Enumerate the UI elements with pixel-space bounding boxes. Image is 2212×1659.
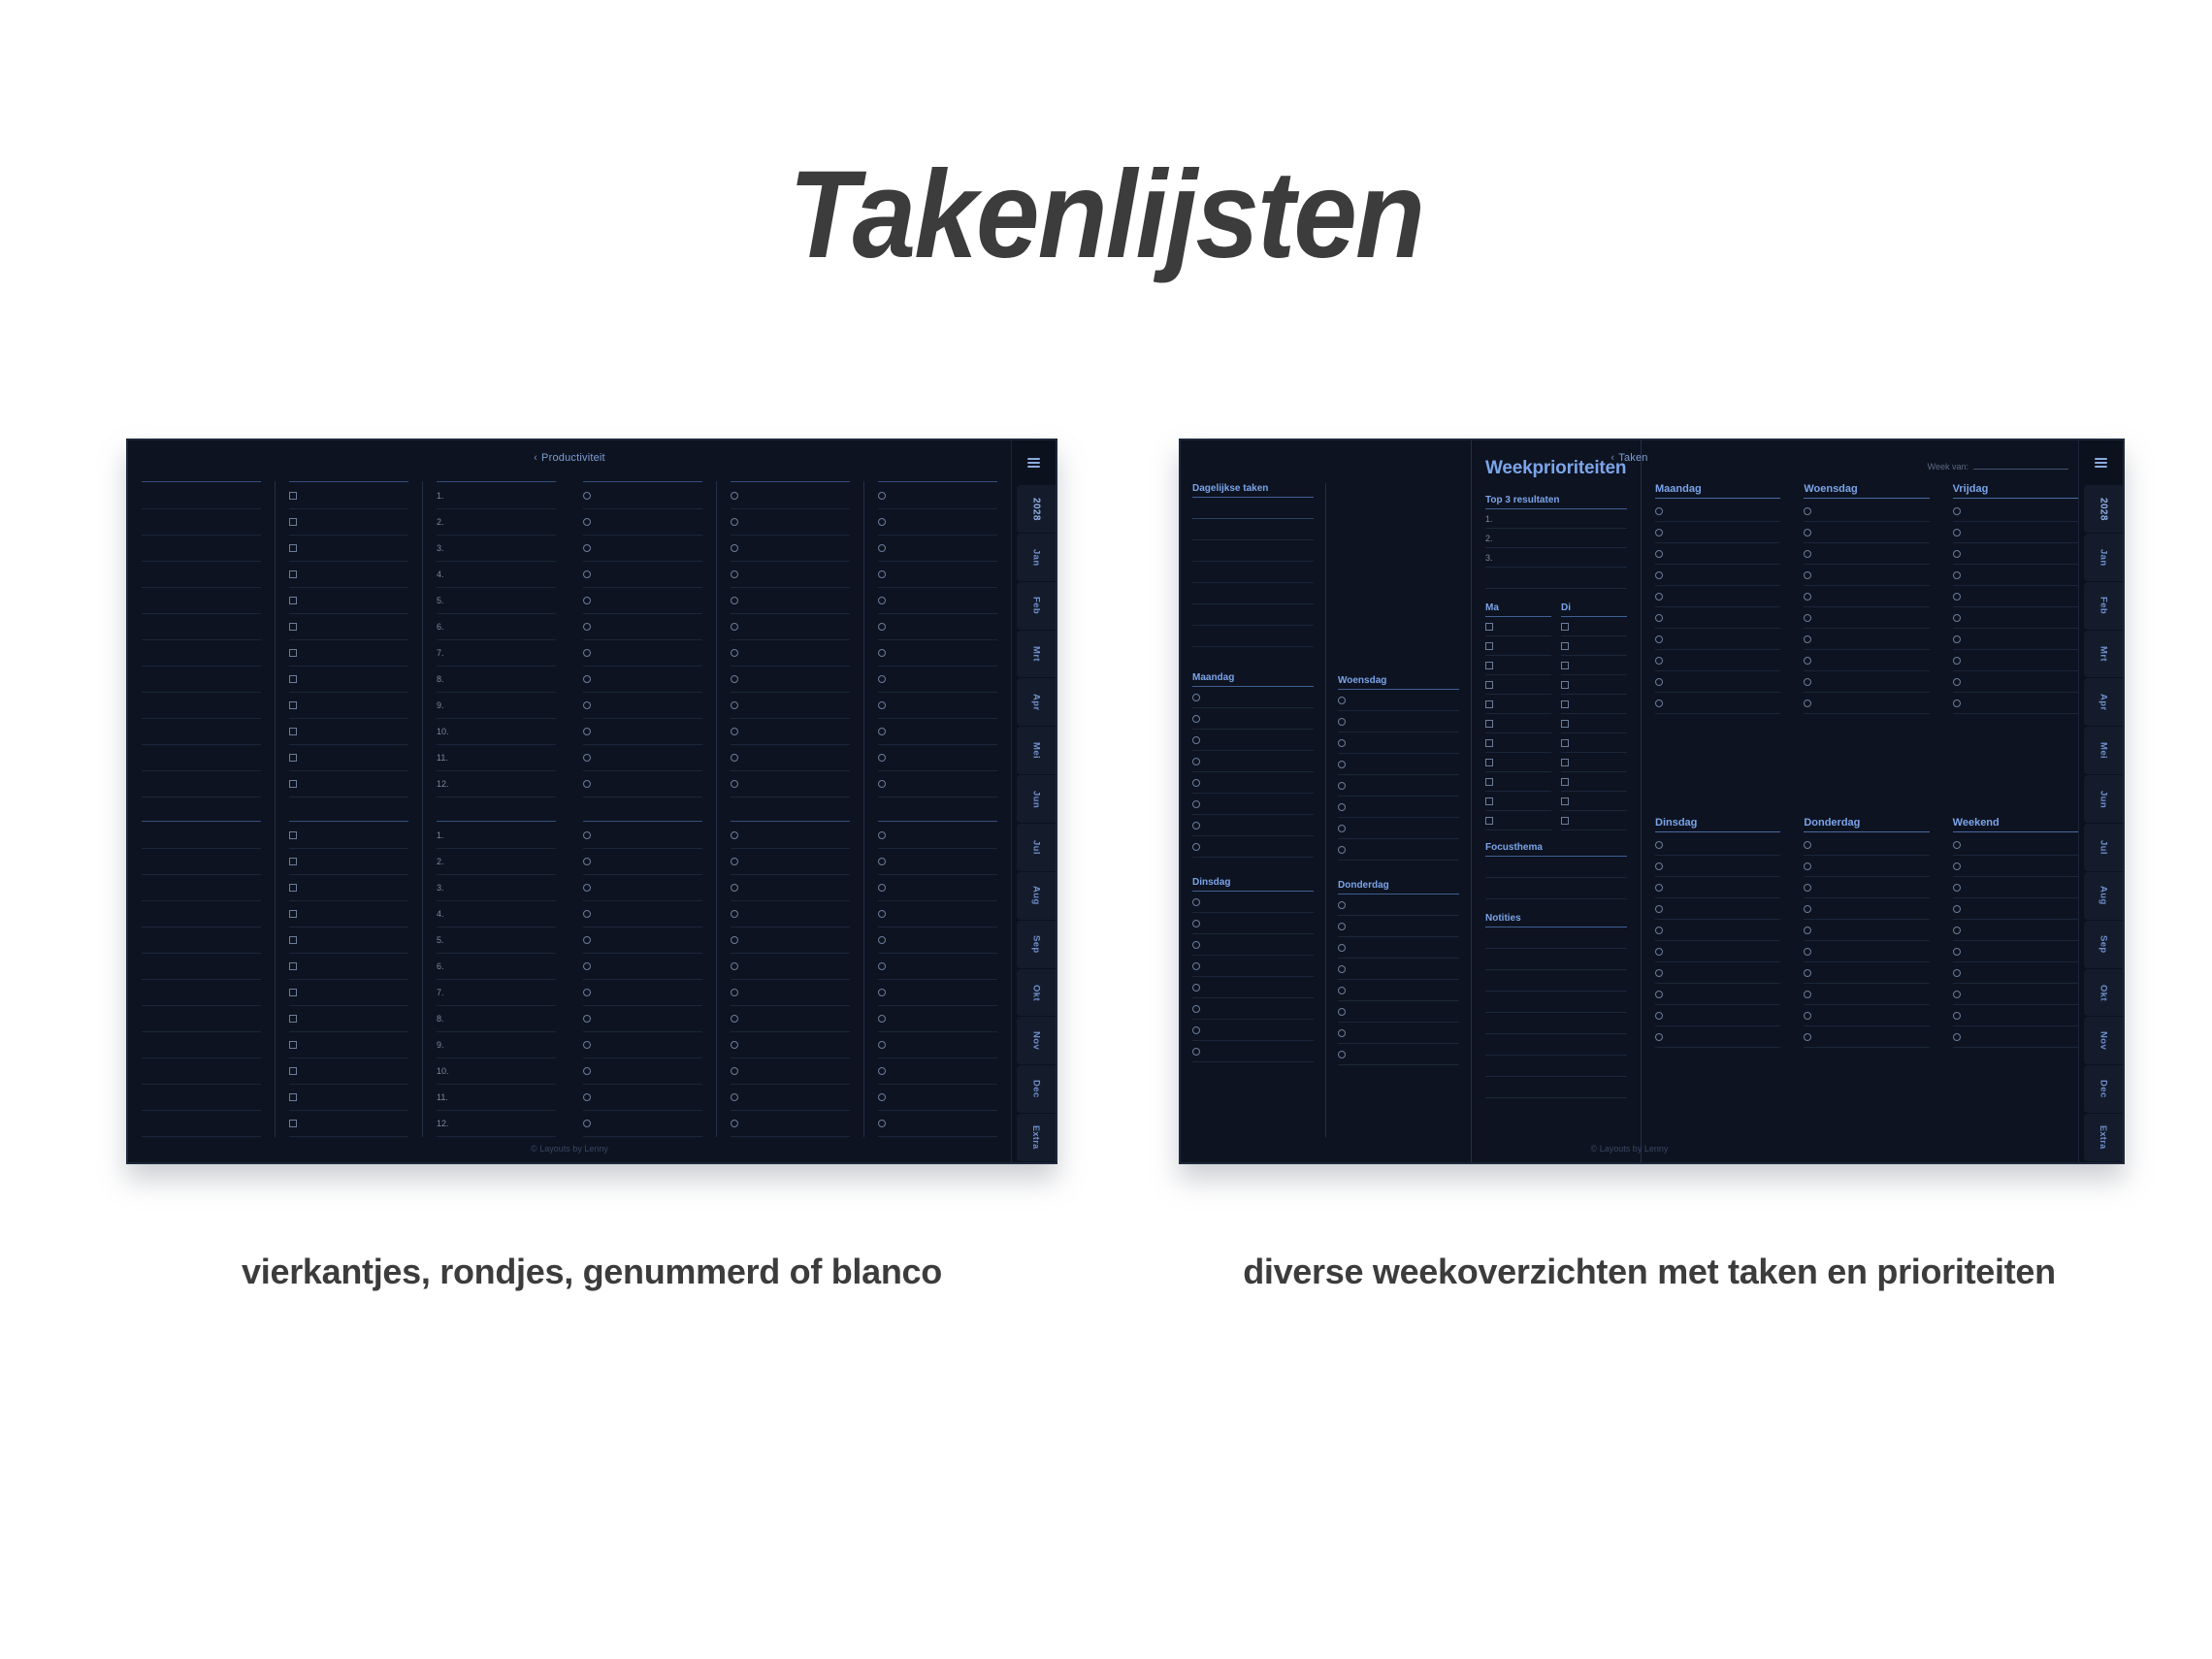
checkbox-circle-icon[interactable] [1655, 862, 1663, 870]
checkbox-circle-icon[interactable] [1804, 905, 1811, 913]
checkbox-circle-icon[interactable] [1655, 1012, 1663, 1020]
checkbox-circle-icon[interactable] [878, 649, 886, 657]
tasklist-row[interactable] [142, 745, 261, 771]
checkbox-circle-icon[interactable] [731, 1120, 738, 1127]
tasklist-row[interactable] [731, 901, 850, 927]
checkbox-circle-icon[interactable] [878, 518, 886, 526]
day-row[interactable] [1338, 797, 1459, 818]
month-tab-sep[interactable]: Sep [1017, 921, 1056, 969]
weekday-row[interactable] [1804, 834, 1929, 856]
weekday-row[interactable] [1804, 1026, 1929, 1048]
checkbox-circle-icon[interactable] [1192, 941, 1200, 949]
blank-row[interactable] [1192, 604, 1314, 626]
tasklist-row[interactable] [878, 1085, 997, 1111]
tasklist-row[interactable] [583, 614, 702, 640]
weekday-row[interactable] [1804, 586, 1929, 607]
checkbox-square-icon[interactable] [289, 728, 297, 735]
day-row[interactable] [1192, 1020, 1314, 1041]
day-row[interactable] [1192, 956, 1314, 977]
day-row[interactable] [1338, 959, 1459, 980]
tasklist-row[interactable] [142, 667, 261, 693]
checkbox-row[interactable] [1485, 753, 1551, 772]
tasklist-row[interactable]: 10. [437, 1058, 556, 1085]
day-row[interactable] [1338, 1001, 1459, 1023]
tasklist-row[interactable] [731, 667, 850, 693]
tasklist-row[interactable] [142, 771, 261, 797]
tasklist-row[interactable] [289, 640, 408, 667]
checkbox-circle-icon[interactable] [878, 570, 886, 578]
tasklist-row[interactable] [289, 693, 408, 719]
checkbox-circle-icon[interactable] [1953, 550, 1961, 558]
weekday-row[interactable] [1953, 501, 2078, 522]
tasklist-row[interactable] [878, 588, 997, 614]
weekday-row[interactable] [1804, 898, 1929, 920]
checkbox-square-icon[interactable] [1485, 739, 1493, 747]
tasklist-row[interactable] [289, 667, 408, 693]
checkbox-row[interactable] [1561, 772, 1627, 792]
checkbox-circle-icon[interactable] [1655, 969, 1663, 977]
checkbox-circle-icon[interactable] [878, 884, 886, 892]
tasklist-row[interactable] [289, 1006, 408, 1032]
checkbox-circle-icon[interactable] [1338, 1051, 1346, 1058]
checkbox-circle-icon[interactable] [1192, 736, 1200, 744]
checkbox-square-icon[interactable] [1485, 642, 1493, 650]
checkbox-circle-icon[interactable] [1804, 571, 1811, 579]
tasklist-row[interactable] [878, 562, 997, 588]
checkbox-circle-icon[interactable] [1655, 905, 1663, 913]
checkbox-circle-icon[interactable] [1192, 758, 1200, 765]
tasklist-row[interactable] [289, 1111, 408, 1137]
checkbox-square-icon[interactable] [1561, 797, 1569, 805]
tasklist-row[interactable]: 6. [437, 954, 556, 980]
checkbox-circle-icon[interactable] [583, 728, 591, 735]
tasklist-row[interactable] [583, 927, 702, 954]
tasklist-row[interactable] [583, 667, 702, 693]
checkbox-square-icon[interactable] [289, 780, 297, 788]
tasklist-row[interactable] [142, 980, 261, 1006]
checkbox-circle-icon[interactable] [1338, 697, 1346, 704]
checkbox-circle-icon[interactable] [583, 884, 591, 892]
checkbox-circle-icon[interactable] [1338, 965, 1346, 973]
checkbox-circle-icon[interactable] [878, 962, 886, 970]
tasklist-row[interactable] [731, 1085, 850, 1111]
checkbox-circle-icon[interactable] [1655, 571, 1663, 579]
day-row[interactable] [1338, 895, 1459, 916]
checkbox-circle-icon[interactable] [583, 1120, 591, 1127]
blank-row[interactable] [1485, 568, 1627, 589]
tasklist-row[interactable] [289, 849, 408, 875]
weekday-row[interactable] [1953, 1026, 2078, 1048]
checkbox-circle-icon[interactable] [1655, 927, 1663, 934]
blank-row[interactable] [1485, 1077, 1627, 1098]
checkbox-circle-icon[interactable] [1953, 884, 1961, 892]
day-row[interactable] [1192, 892, 1314, 913]
weekday-row[interactable] [1655, 1026, 1780, 1048]
checkbox-circle-icon[interactable] [731, 597, 738, 604]
checkbox-circle-icon[interactable] [731, 1093, 738, 1101]
month-tab-dec[interactable]: Dec [2084, 1065, 2123, 1114]
weekday-row[interactable] [1655, 920, 1780, 941]
tasklist-row[interactable] [583, 536, 702, 562]
month-tab-nov[interactable]: Nov [2084, 1017, 2123, 1065]
weekday-row[interactable] [1655, 501, 1780, 522]
checkbox-circle-icon[interactable] [1953, 841, 1961, 849]
tasklist-row[interactable] [878, 693, 997, 719]
checkbox-circle-icon[interactable] [878, 492, 886, 500]
checkbox-row[interactable] [1561, 733, 1627, 753]
checkbox-circle-icon[interactable] [1338, 987, 1346, 994]
checkbox-circle-icon[interactable] [1192, 1026, 1200, 1034]
tasklist-row[interactable]: 12. [437, 1111, 556, 1137]
tasklist-row[interactable] [878, 614, 997, 640]
tasklist-row[interactable] [878, 901, 997, 927]
day-row[interactable] [1338, 690, 1459, 711]
tasklist-row[interactable] [731, 875, 850, 901]
day-row[interactable] [1338, 916, 1459, 937]
weekday-row[interactable] [1655, 834, 1780, 856]
checkbox-circle-icon[interactable] [1953, 657, 1961, 665]
top3-row[interactable]: 1. [1485, 509, 1627, 529]
checkbox-circle-icon[interactable] [1804, 550, 1811, 558]
checkbox-circle-icon[interactable] [1953, 948, 1961, 956]
tasklist-row[interactable] [731, 562, 850, 588]
tasklist-row[interactable]: 3. [437, 875, 556, 901]
tasklist-row[interactable]: 11. [437, 745, 556, 771]
checkbox-circle-icon[interactable] [583, 570, 591, 578]
weekday-row[interactable] [1804, 650, 1929, 671]
checkbox-circle-icon[interactable] [583, 492, 591, 500]
day-row[interactable] [1192, 687, 1314, 708]
checkbox-circle-icon[interactable] [1953, 614, 1961, 622]
checkbox-circle-icon[interactable] [731, 649, 738, 657]
checkbox-row[interactable] [1485, 811, 1551, 830]
checkbox-square-icon[interactable] [289, 1067, 297, 1075]
tasklist-row[interactable]: 9. [437, 693, 556, 719]
checkbox-circle-icon[interactable] [583, 910, 591, 918]
checkbox-circle-icon[interactable] [1338, 901, 1346, 909]
weekday-row[interactable] [1953, 650, 2078, 671]
checkbox-square-icon[interactable] [1485, 759, 1493, 766]
checkbox-circle-icon[interactable] [1804, 614, 1811, 622]
tasklist-row[interactable]: 8. [437, 1006, 556, 1032]
checkbox-square-icon[interactable] [289, 884, 297, 892]
tasklist-row[interactable] [583, 1032, 702, 1058]
tasklist-row[interactable] [878, 1111, 997, 1137]
checkbox-circle-icon[interactable] [1192, 843, 1200, 851]
day-row[interactable] [1192, 708, 1314, 730]
tasklist-row[interactable] [731, 483, 850, 509]
checkbox-circle-icon[interactable] [878, 597, 886, 604]
tasklist-row[interactable] [731, 954, 850, 980]
tasklist-row[interactable]: 9. [437, 1032, 556, 1058]
checkbox-row[interactable] [1561, 617, 1627, 636]
top3-row[interactable]: 2. [1485, 529, 1627, 548]
tasklist-row[interactable] [142, 640, 261, 667]
checkbox-circle-icon[interactable] [1953, 1012, 1961, 1020]
weekday-row[interactable] [1804, 671, 1929, 693]
checkbox-circle-icon[interactable] [878, 780, 886, 788]
checkbox-square-icon[interactable] [1561, 642, 1569, 650]
tasklist-row[interactable] [583, 1006, 702, 1032]
checkbox-circle-icon[interactable] [731, 1015, 738, 1023]
checkbox-circle-icon[interactable] [1338, 1008, 1346, 1016]
checkbox-circle-icon[interactable] [1192, 715, 1200, 723]
weekday-row[interactable] [1655, 565, 1780, 586]
tasklist-row[interactable] [142, 927, 261, 954]
blank-row[interactable] [1192, 498, 1314, 519]
checkbox-square-icon[interactable] [289, 858, 297, 865]
weekday-row[interactable] [1953, 693, 2078, 714]
weekday-row[interactable] [1804, 693, 1929, 714]
tasklist-row[interactable] [878, 849, 997, 875]
day-row[interactable] [1338, 818, 1459, 839]
tasklist-row[interactable] [142, 588, 261, 614]
day-row[interactable] [1192, 730, 1314, 751]
checkbox-square-icon[interactable] [1485, 662, 1493, 669]
checkbox-circle-icon[interactable] [1338, 944, 1346, 952]
tasklist-row[interactable] [583, 901, 702, 927]
checkbox-circle-icon[interactable] [1953, 699, 1961, 707]
checkbox-circle-icon[interactable] [1953, 1033, 1961, 1041]
day-row[interactable] [1338, 754, 1459, 775]
month-tab-2028[interactable]: 2028 [1017, 485, 1056, 534]
checkbox-square-icon[interactable] [289, 649, 297, 657]
checkbox-circle-icon[interactable] [1338, 718, 1346, 726]
checkbox-circle-icon[interactable] [1655, 657, 1663, 665]
checkbox-row[interactable] [1561, 656, 1627, 675]
checkbox-square-icon[interactable] [289, 701, 297, 709]
checkbox-circle-icon[interactable] [878, 623, 886, 631]
checkbox-row[interactable] [1485, 656, 1551, 675]
tasklist-row[interactable] [583, 1058, 702, 1085]
checkbox-square-icon[interactable] [289, 1120, 297, 1127]
tasklist-row[interactable] [878, 483, 997, 509]
tasklist-row[interactable] [583, 823, 702, 849]
weekday-row[interactable] [1655, 607, 1780, 629]
weekday-row[interactable] [1804, 543, 1929, 565]
checkbox-circle-icon[interactable] [878, 544, 886, 552]
weekday-row[interactable] [1953, 898, 2078, 920]
checkbox-square-icon[interactable] [1561, 662, 1569, 669]
checkbox-circle-icon[interactable] [583, 623, 591, 631]
checkbox-circle-icon[interactable] [878, 831, 886, 839]
tasklist-row[interactable] [583, 771, 702, 797]
checkbox-square-icon[interactable] [1561, 623, 1569, 631]
checkbox-circle-icon[interactable] [731, 754, 738, 762]
tasklist-row[interactable] [142, 719, 261, 745]
checkbox-circle-icon[interactable] [1655, 699, 1663, 707]
tasklist-row[interactable] [142, 1058, 261, 1085]
tasklist-row[interactable]: 4. [437, 562, 556, 588]
weekday-row[interactable] [1655, 984, 1780, 1005]
checkbox-circle-icon[interactable] [1804, 699, 1811, 707]
tasklist-row[interactable] [142, 823, 261, 849]
checkbox-circle-icon[interactable] [1953, 507, 1961, 515]
month-tab-mei[interactable]: Mei [1017, 727, 1056, 775]
checkbox-square-icon[interactable] [1485, 778, 1493, 786]
checkbox-square-icon[interactable] [289, 831, 297, 839]
month-tab-jun[interactable]: Jun [1017, 775, 1056, 824]
weekday-row[interactable] [1655, 898, 1780, 920]
tasklist-row[interactable]: 5. [437, 588, 556, 614]
checkbox-square-icon[interactable] [289, 910, 297, 918]
checkbox-circle-icon[interactable] [583, 1041, 591, 1049]
tasklist-row[interactable] [731, 614, 850, 640]
checkbox-circle-icon[interactable] [1655, 507, 1663, 515]
weekday-row[interactable] [1953, 586, 2078, 607]
checkbox-circle-icon[interactable] [1804, 1033, 1811, 1041]
checkbox-circle-icon[interactable] [1804, 593, 1811, 601]
checkbox-circle-icon[interactable] [583, 754, 591, 762]
weekday-row[interactable] [1953, 941, 2078, 962]
tasklist-row[interactable]: 10. [437, 719, 556, 745]
checkbox-circle-icon[interactable] [1804, 507, 1811, 515]
checkbox-circle-icon[interactable] [1953, 862, 1961, 870]
tasklist-row[interactable]: 2. [437, 849, 556, 875]
tasklist-row[interactable] [142, 1111, 261, 1137]
tasklist-row[interactable] [142, 849, 261, 875]
blank-row[interactable] [1192, 583, 1314, 604]
checkbox-circle-icon[interactable] [1953, 678, 1961, 686]
blank-row[interactable] [1192, 519, 1314, 540]
tasklist-row[interactable] [731, 640, 850, 667]
tasklist-row[interactable] [731, 927, 850, 954]
month-tab-2028[interactable]: 2028 [2084, 485, 2123, 534]
month-tab-okt[interactable]: Okt [2084, 969, 2123, 1018]
tasklist-row[interactable] [583, 693, 702, 719]
checkbox-square-icon[interactable] [289, 623, 297, 631]
checkbox-circle-icon[interactable] [1338, 803, 1346, 811]
checkbox-circle-icon[interactable] [1192, 898, 1200, 906]
checkbox-circle-icon[interactable] [583, 675, 591, 683]
checkbox-circle-icon[interactable] [1192, 694, 1200, 701]
tasklist-row[interactable] [289, 536, 408, 562]
month-tab-extra[interactable]: Extra [2084, 1114, 2123, 1162]
weekday-row[interactable] [1953, 962, 2078, 984]
tasklist-row[interactable] [878, 1058, 997, 1085]
tasklist-row[interactable] [289, 1032, 408, 1058]
month-tab-dec[interactable]: Dec [1017, 1065, 1056, 1114]
checkbox-row[interactable] [1485, 733, 1551, 753]
checkbox-circle-icon[interactable] [1655, 550, 1663, 558]
day-row[interactable] [1338, 711, 1459, 732]
tasklist-row[interactable] [289, 771, 408, 797]
month-tab-mrt[interactable]: Mrt [2084, 631, 2123, 679]
weekday-row[interactable] [1804, 501, 1929, 522]
day-row[interactable] [1192, 815, 1314, 836]
checkbox-circle-icon[interactable] [1338, 782, 1346, 790]
weekday-row[interactable] [1804, 984, 1929, 1005]
checkbox-circle-icon[interactable] [1192, 1048, 1200, 1056]
weekday-row[interactable] [1953, 984, 2078, 1005]
day-row[interactable] [1338, 937, 1459, 959]
month-tab-feb[interactable]: Feb [1017, 582, 1056, 631]
checkbox-circle-icon[interactable] [1192, 962, 1200, 970]
checkbox-circle-icon[interactable] [1804, 862, 1811, 870]
checkbox-square-icon[interactable] [289, 754, 297, 762]
blank-row[interactable] [1192, 562, 1314, 583]
blank-row[interactable] [1485, 878, 1627, 899]
tasklist-row[interactable] [142, 614, 261, 640]
day-row[interactable] [1338, 839, 1459, 861]
tasklist-row[interactable] [878, 875, 997, 901]
checkbox-square-icon[interactable] [289, 962, 297, 970]
checkbox-circle-icon[interactable] [878, 858, 886, 865]
checkbox-circle-icon[interactable] [1338, 846, 1346, 854]
checkbox-square-icon[interactable] [1485, 797, 1493, 805]
tasklist-row[interactable] [289, 1085, 408, 1111]
tasklist-row[interactable] [583, 588, 702, 614]
tasklist-row[interactable] [878, 1032, 997, 1058]
checkbox-square-icon[interactable] [1561, 681, 1569, 689]
tasklist-row[interactable] [583, 980, 702, 1006]
tasklist-row[interactable] [878, 536, 997, 562]
checkbox-circle-icon[interactable] [1338, 1029, 1346, 1037]
blank-row[interactable] [1485, 970, 1627, 992]
day-row[interactable] [1192, 998, 1314, 1020]
tasklist-row[interactable]: 3. [437, 536, 556, 562]
tasklist-row[interactable] [289, 823, 408, 849]
tasklist-row[interactable] [878, 771, 997, 797]
day-row[interactable] [1338, 732, 1459, 754]
checkbox-circle-icon[interactable] [1804, 1012, 1811, 1020]
checkbox-square-icon[interactable] [1561, 817, 1569, 825]
blank-row[interactable] [1485, 949, 1627, 970]
weekday-row[interactable] [1655, 1005, 1780, 1026]
tasklist-row[interactable] [289, 1058, 408, 1085]
checkbox-circle-icon[interactable] [583, 544, 591, 552]
checkbox-square-icon[interactable] [1485, 681, 1493, 689]
tasklist-row[interactable] [583, 745, 702, 771]
tasklist-row[interactable] [583, 509, 702, 536]
weekday-row[interactable] [1655, 877, 1780, 898]
checkbox-square-icon[interactable] [289, 989, 297, 996]
weekday-row[interactable] [1804, 629, 1929, 650]
checkbox-circle-icon[interactable] [878, 754, 886, 762]
checkbox-square-icon[interactable] [1485, 623, 1493, 631]
weekday-row[interactable] [1953, 629, 2078, 650]
tasklist-row[interactable] [731, 536, 850, 562]
tasklist-row[interactable] [731, 588, 850, 614]
checkbox-circle-icon[interactable] [1953, 905, 1961, 913]
blank-row[interactable] [1485, 1013, 1627, 1034]
checkbox-circle-icon[interactable] [1655, 529, 1663, 537]
checkbox-circle-icon[interactable] [583, 831, 591, 839]
tasklist-row[interactable] [289, 745, 408, 771]
checkbox-row[interactable] [1561, 811, 1627, 830]
weekday-row[interactable] [1953, 543, 2078, 565]
tasklist-row[interactable] [731, 1032, 850, 1058]
checkbox-circle-icon[interactable] [1953, 529, 1961, 537]
blank-row[interactable] [1485, 1056, 1627, 1077]
checkbox-row[interactable] [1485, 714, 1551, 733]
checkbox-circle-icon[interactable] [1804, 529, 1811, 537]
tasklist-row[interactable] [878, 954, 997, 980]
day-row[interactable] [1192, 977, 1314, 998]
checkbox-circle-icon[interactable] [878, 1120, 886, 1127]
month-tab-nov[interactable]: Nov [1017, 1017, 1056, 1065]
checkbox-circle-icon[interactable] [731, 570, 738, 578]
checkbox-circle-icon[interactable] [1655, 1033, 1663, 1041]
tasklist-row[interactable] [289, 562, 408, 588]
checkbox-circle-icon[interactable] [731, 780, 738, 788]
month-tab-feb[interactable]: Feb [2084, 582, 2123, 631]
tasklist-row[interactable] [731, 719, 850, 745]
checkbox-circle-icon[interactable] [1804, 657, 1811, 665]
checkbox-square-icon[interactable] [1485, 720, 1493, 728]
checkbox-circle-icon[interactable] [1655, 884, 1663, 892]
tasklist-row[interactable]: 8. [437, 667, 556, 693]
